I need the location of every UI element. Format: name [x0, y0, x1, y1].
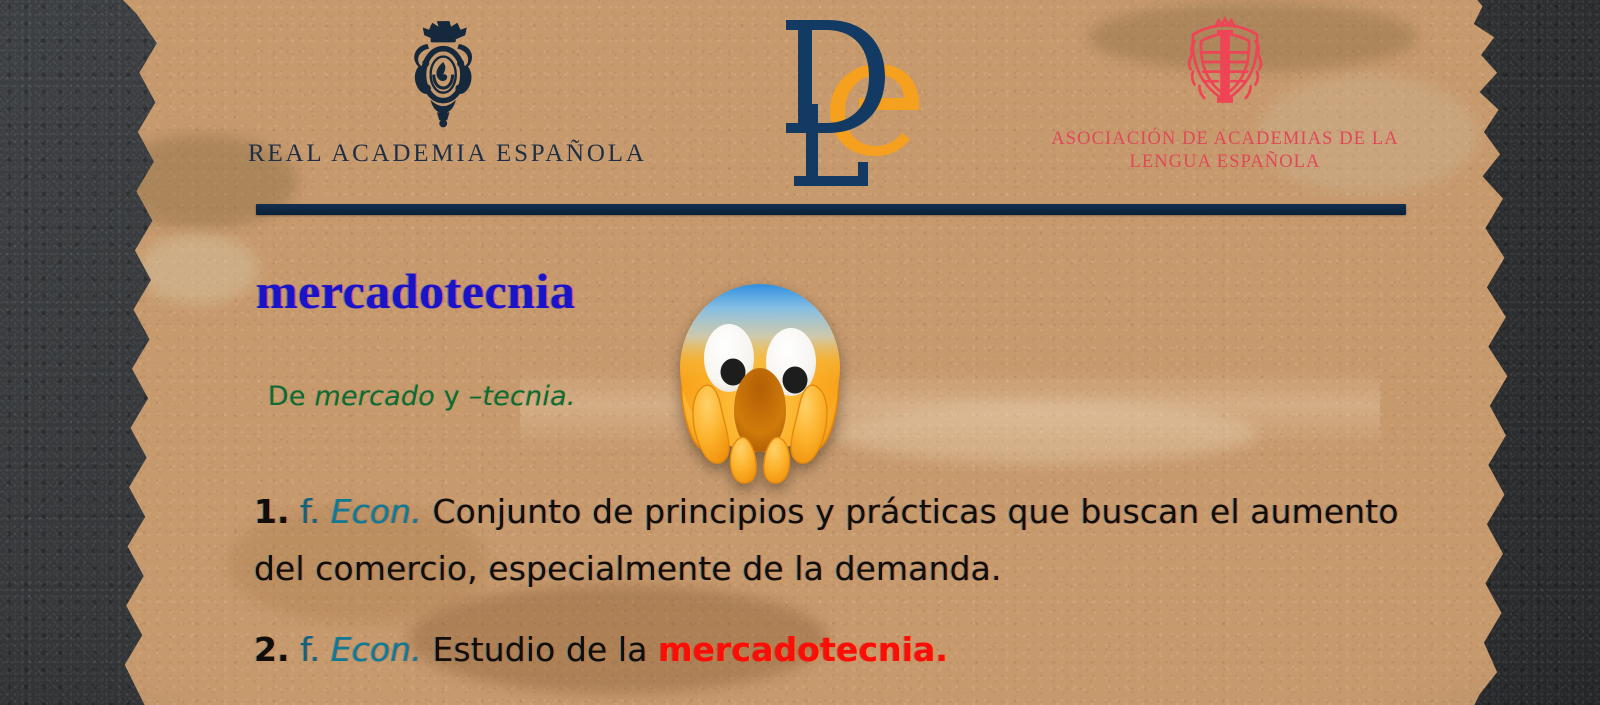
entry-etymology: De mercado y –tecnia.	[268, 381, 576, 412]
emoji-pupil-right	[783, 367, 808, 394]
sense-grammar-label: f.	[300, 492, 320, 531]
etymology-conjunction: y	[435, 381, 469, 412]
sense-cross-reference[interactable]: mercadotecnia.	[658, 630, 948, 669]
sense-definition-text: Estudio de la	[433, 630, 659, 669]
sense-item: 1. f. Econ. Conjunto de principios y prá…	[254, 483, 1404, 597]
screenshot-root: REAL ACADEMIA ESPAÑOLA	[0, 0, 1600, 705]
sense-grammar-label: f.	[300, 630, 320, 669]
sense-field-label: Econ.	[331, 492, 422, 531]
sense-number: 2.	[254, 630, 290, 669]
face-screaming-in-fear-emoji	[664, 262, 856, 484]
entry-headword: mercadotecnia	[256, 262, 575, 320]
etymology-root-2[interactable]: –tecnia.	[469, 381, 576, 412]
sense-field-label: Econ.	[331, 630, 422, 669]
sense-number: 1.	[254, 492, 290, 531]
sense-definition-text: Conjunto de principios y prácticas que b…	[254, 492, 1399, 588]
etymology-root-1[interactable]: mercado	[315, 381, 435, 412]
etymology-prefix: De	[268, 381, 315, 412]
sense-item: 2. f. Econ. Estudio de la mercadotecnia.	[254, 621, 1404, 678]
